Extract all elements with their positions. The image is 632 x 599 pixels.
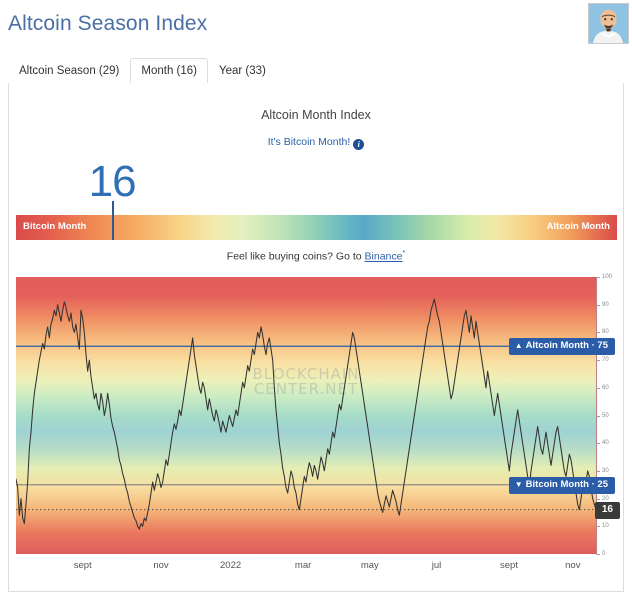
badge-altcoin-text: Altcoin Month · 75: [526, 340, 608, 351]
index-heading: Altcoin Month Index: [9, 108, 623, 122]
y-tick-label: 90: [602, 302, 609, 308]
y-tick-mark: [596, 360, 600, 361]
x-axis: septnov2022marmayjulseptnov: [16, 556, 596, 578]
y-tick-mark: [596, 388, 600, 389]
tab-month[interactable]: Month (16): [130, 58, 208, 84]
y-tick-label: 10: [602, 523, 609, 529]
badge-bitcoin-month[interactable]: ▼Bitcoin Month · 25: [509, 477, 615, 494]
y-tick-mark: [596, 443, 600, 444]
avatar-illustration: [589, 4, 628, 43]
x-tick-label: mar: [295, 560, 311, 571]
status-text: It's Bitcoin Month!: [268, 136, 351, 148]
y-tick-label: 30: [602, 468, 609, 474]
promo-prefix: Feel like buying coins? Go to: [227, 251, 365, 263]
avatar[interactable]: [588, 3, 629, 44]
y-tick-mark: [596, 416, 600, 417]
gauge-marker: [112, 201, 114, 240]
badge-current-value: 16: [595, 502, 620, 519]
y-tick-mark: [596, 554, 600, 555]
y-tick-mark: [596, 499, 600, 500]
chart-plot-area[interactable]: BLOCKCHAINCENTER.NET: [16, 277, 596, 554]
index-series-line: [16, 299, 596, 529]
x-tick-label: sept: [500, 560, 518, 571]
y-tick-label: 40: [602, 440, 609, 446]
binance-link[interactable]: Binance: [365, 251, 403, 263]
y-tick-label: 80: [602, 329, 609, 335]
index-panel: Altcoin Month Index It's Bitcoin Month!i…: [8, 83, 624, 592]
status-line: It's Bitcoin Month!i: [9, 136, 623, 150]
gauge-label-left: Bitcoin Month: [23, 221, 86, 232]
x-tick-label: nov: [565, 560, 580, 571]
gauge: Bitcoin Month Altcoin Month: [16, 215, 617, 240]
y-tick-label: 100: [602, 274, 612, 280]
y-tick-mark: [596, 526, 600, 527]
tab-bar: Altcoin Season (29) Month (16) Year (33): [8, 58, 624, 84]
gauge-gradient-bar: [16, 215, 617, 240]
y-tick-mark: [596, 305, 600, 306]
info-icon[interactable]: i: [353, 139, 364, 150]
y-tick-label: 50: [602, 413, 609, 419]
promo-line: Feel like buying coins? Go to Binance*: [9, 250, 623, 263]
tab-year[interactable]: Year (33): [208, 58, 277, 84]
gauge-value: 16: [89, 157, 136, 207]
triangle-down-icon: ▼: [515, 480, 523, 489]
badge-altcoin-month[interactable]: ▲Altcoin Month · 75: [509, 338, 615, 355]
page-title: Altcoin Season Index: [8, 12, 207, 36]
tab-altcoin-season[interactable]: Altcoin Season (29): [8, 58, 130, 84]
y-tick-mark: [596, 471, 600, 472]
x-tick-label: 2022: [220, 560, 241, 571]
y-tick-mark: [596, 277, 600, 278]
y-tick-label: 60: [602, 385, 609, 391]
chart-line-svg: [16, 277, 596, 554]
y-tick-label: 0: [602, 551, 605, 557]
y-tick-label: 20: [602, 496, 609, 502]
promo-asterisk: *: [402, 250, 405, 257]
x-tick-label: jul: [432, 560, 442, 571]
gauge-label-right: Altcoin Month: [547, 221, 610, 232]
y-tick-label: 70: [602, 357, 609, 363]
badge-bitcoin-text: Bitcoin Month · 25: [526, 479, 608, 490]
x-tick-label: sept: [74, 560, 92, 571]
triangle-up-icon: ▲: [515, 341, 523, 350]
y-tick-mark: [596, 332, 600, 333]
x-tick-label: may: [361, 560, 379, 571]
x-tick-label: nov: [153, 560, 168, 571]
